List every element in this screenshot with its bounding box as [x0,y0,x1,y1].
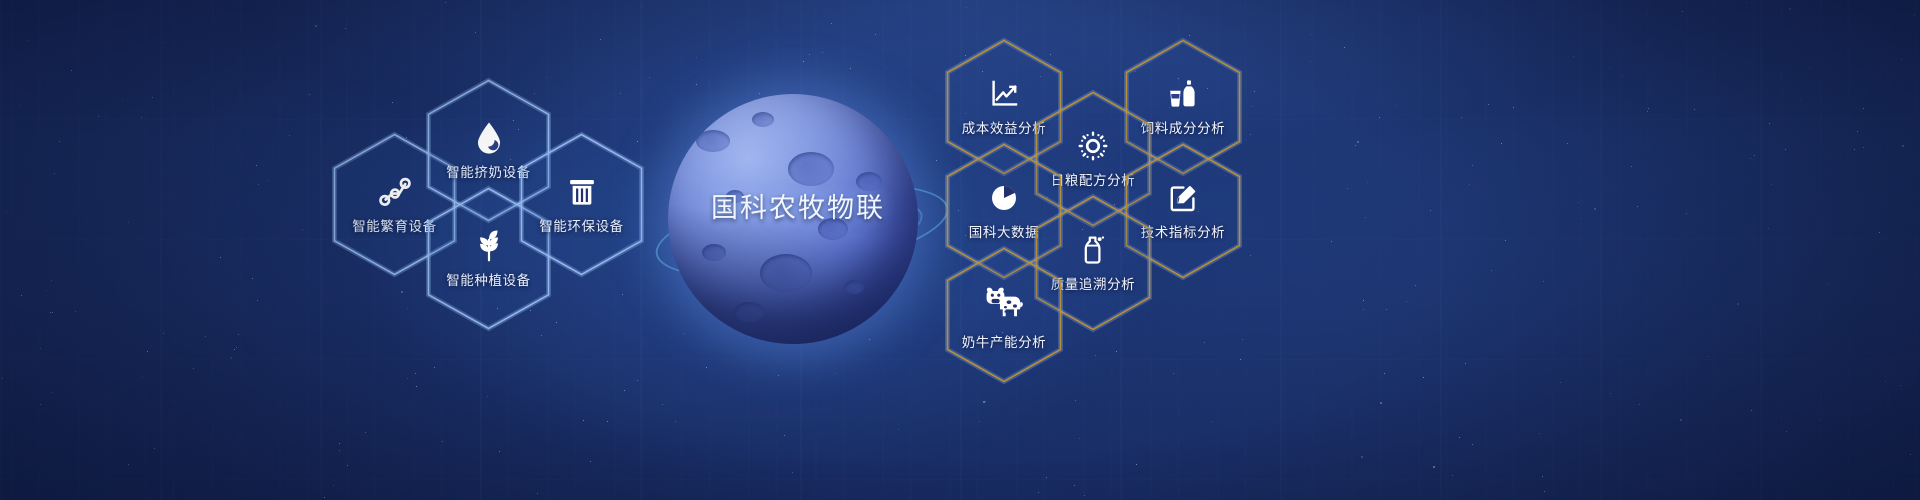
cow-icon [982,280,1026,324]
hex-cow-capacity[interactable]: 奶牛产能分析 [945,246,1063,384]
hex-label: 日粮配方分析 [1051,169,1136,189]
sun-icon [1077,130,1109,162]
pie-chart-icon [988,182,1020,214]
line-chart-icon [988,78,1020,110]
trash-bin-icon [565,174,599,208]
milk-bottle-icon [1077,234,1109,266]
hex-label: 国科大数据 [969,221,1040,241]
hex-label: 奶牛产能分析 [962,331,1047,351]
node-graph-icon [378,174,412,208]
edit-pencil-icon [1167,182,1199,214]
hex-eco[interactable]: 智能环保设备 [519,132,644,277]
milk-bottle-glass-icon [1167,78,1199,110]
page-title: 国科农牧物联 [648,186,948,225]
plant-leaf-icon [472,228,506,262]
hex-label: 技术指标分析 [1141,221,1226,241]
hex-label: 智能繁育设备 [352,215,437,235]
hex-label: 智能环保设备 [539,215,624,235]
hex-label: 质量追溯分析 [1051,273,1136,293]
water-drop-icon [472,120,506,154]
hex-label: 饲料成分分析 [1141,117,1226,137]
hero-banner: 智能繁育设备智能挤奶设备智能种植设备智能环保设备 国科农牧物联 成本效益分析饲料… [0,0,1920,500]
